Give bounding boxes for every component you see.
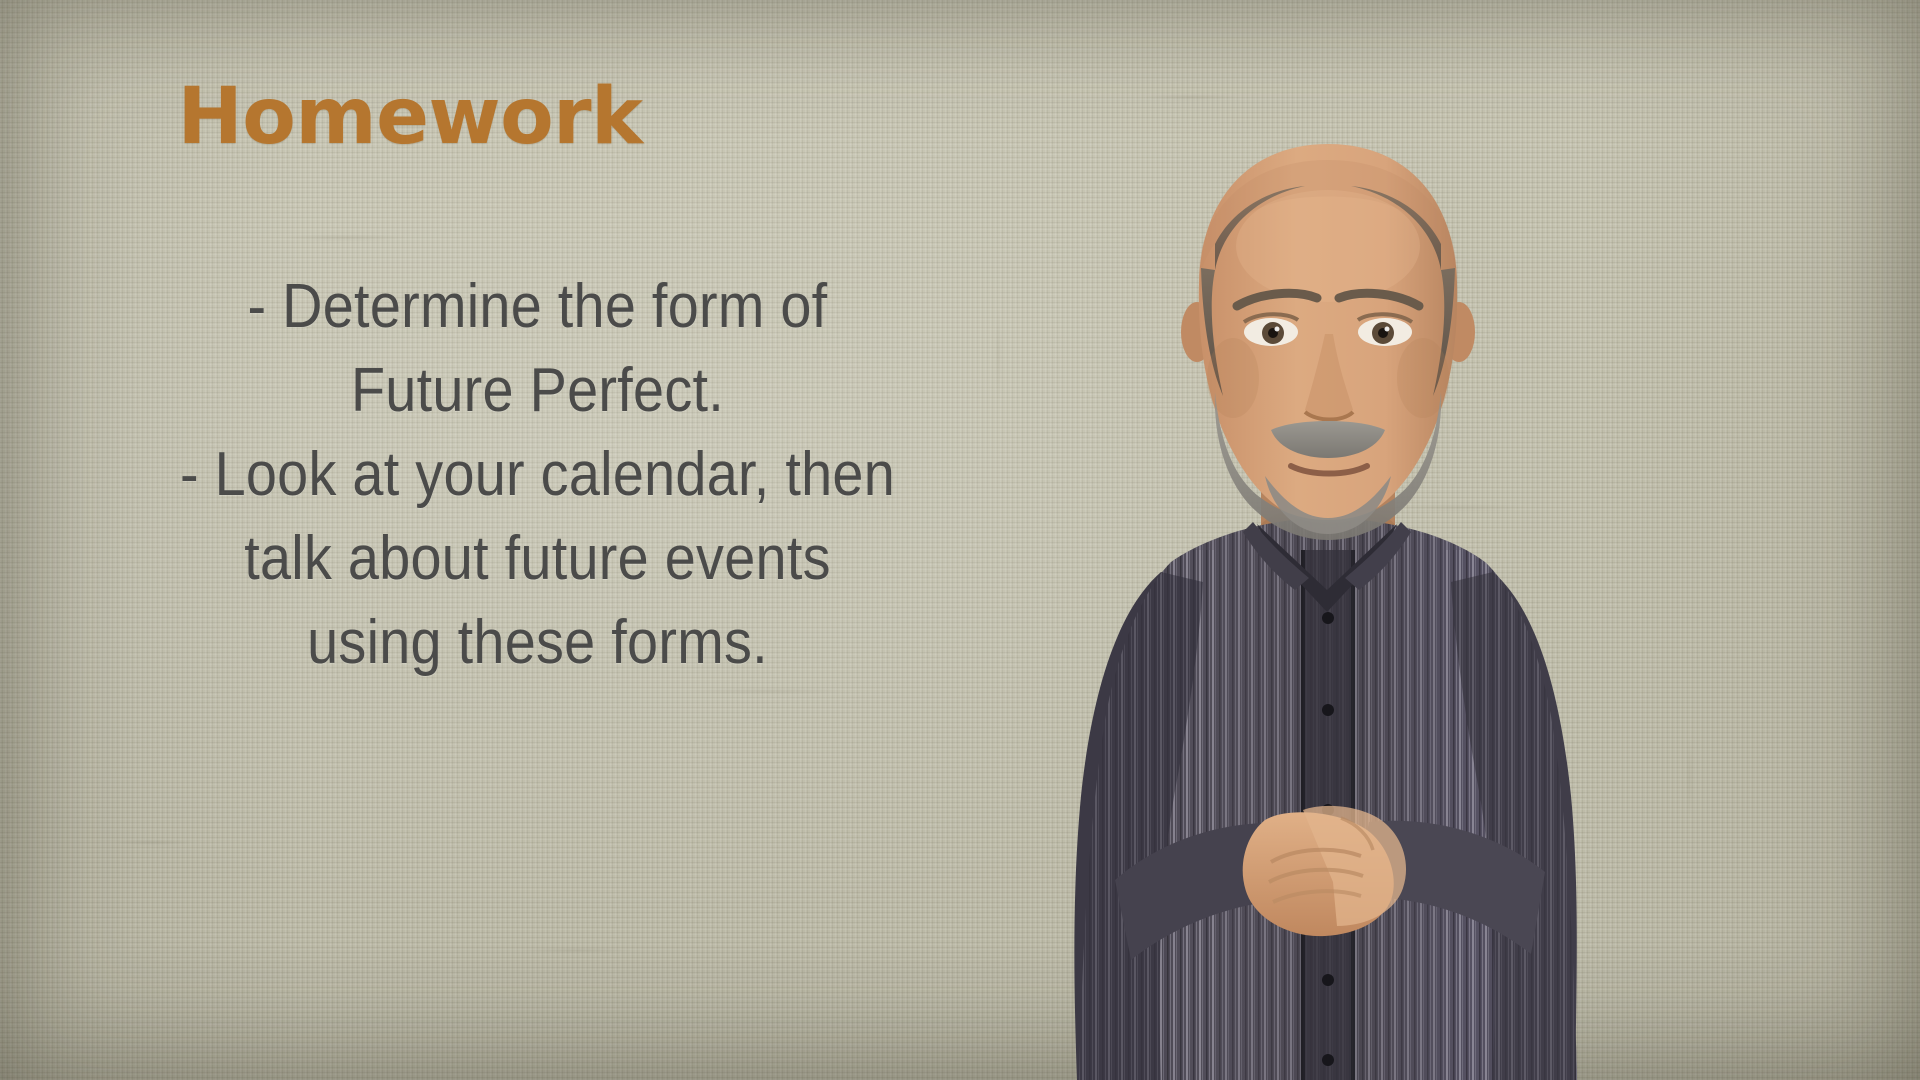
slide-text-layer: Homework - Determine the form of Future … [0, 0, 1100, 1080]
slide-canvas: Homework - Determine the form of Future … [0, 0, 1920, 1080]
instruction-line-5: using these forms. [54, 601, 1022, 685]
instruction-line-4: talk about future events [54, 517, 1022, 601]
homework-instructions-list: - Determine the form of Future Perfect. … [0, 265, 1075, 685]
instruction-line-3: - Look at your calendar, then [54, 433, 1022, 517]
instruction-line-2: Future Perfect. [54, 349, 1022, 433]
presenter-head [1181, 144, 1475, 540]
page-title: Homework [0, 78, 820, 156]
instruction-line-1: - Determine the form of [54, 265, 1022, 349]
